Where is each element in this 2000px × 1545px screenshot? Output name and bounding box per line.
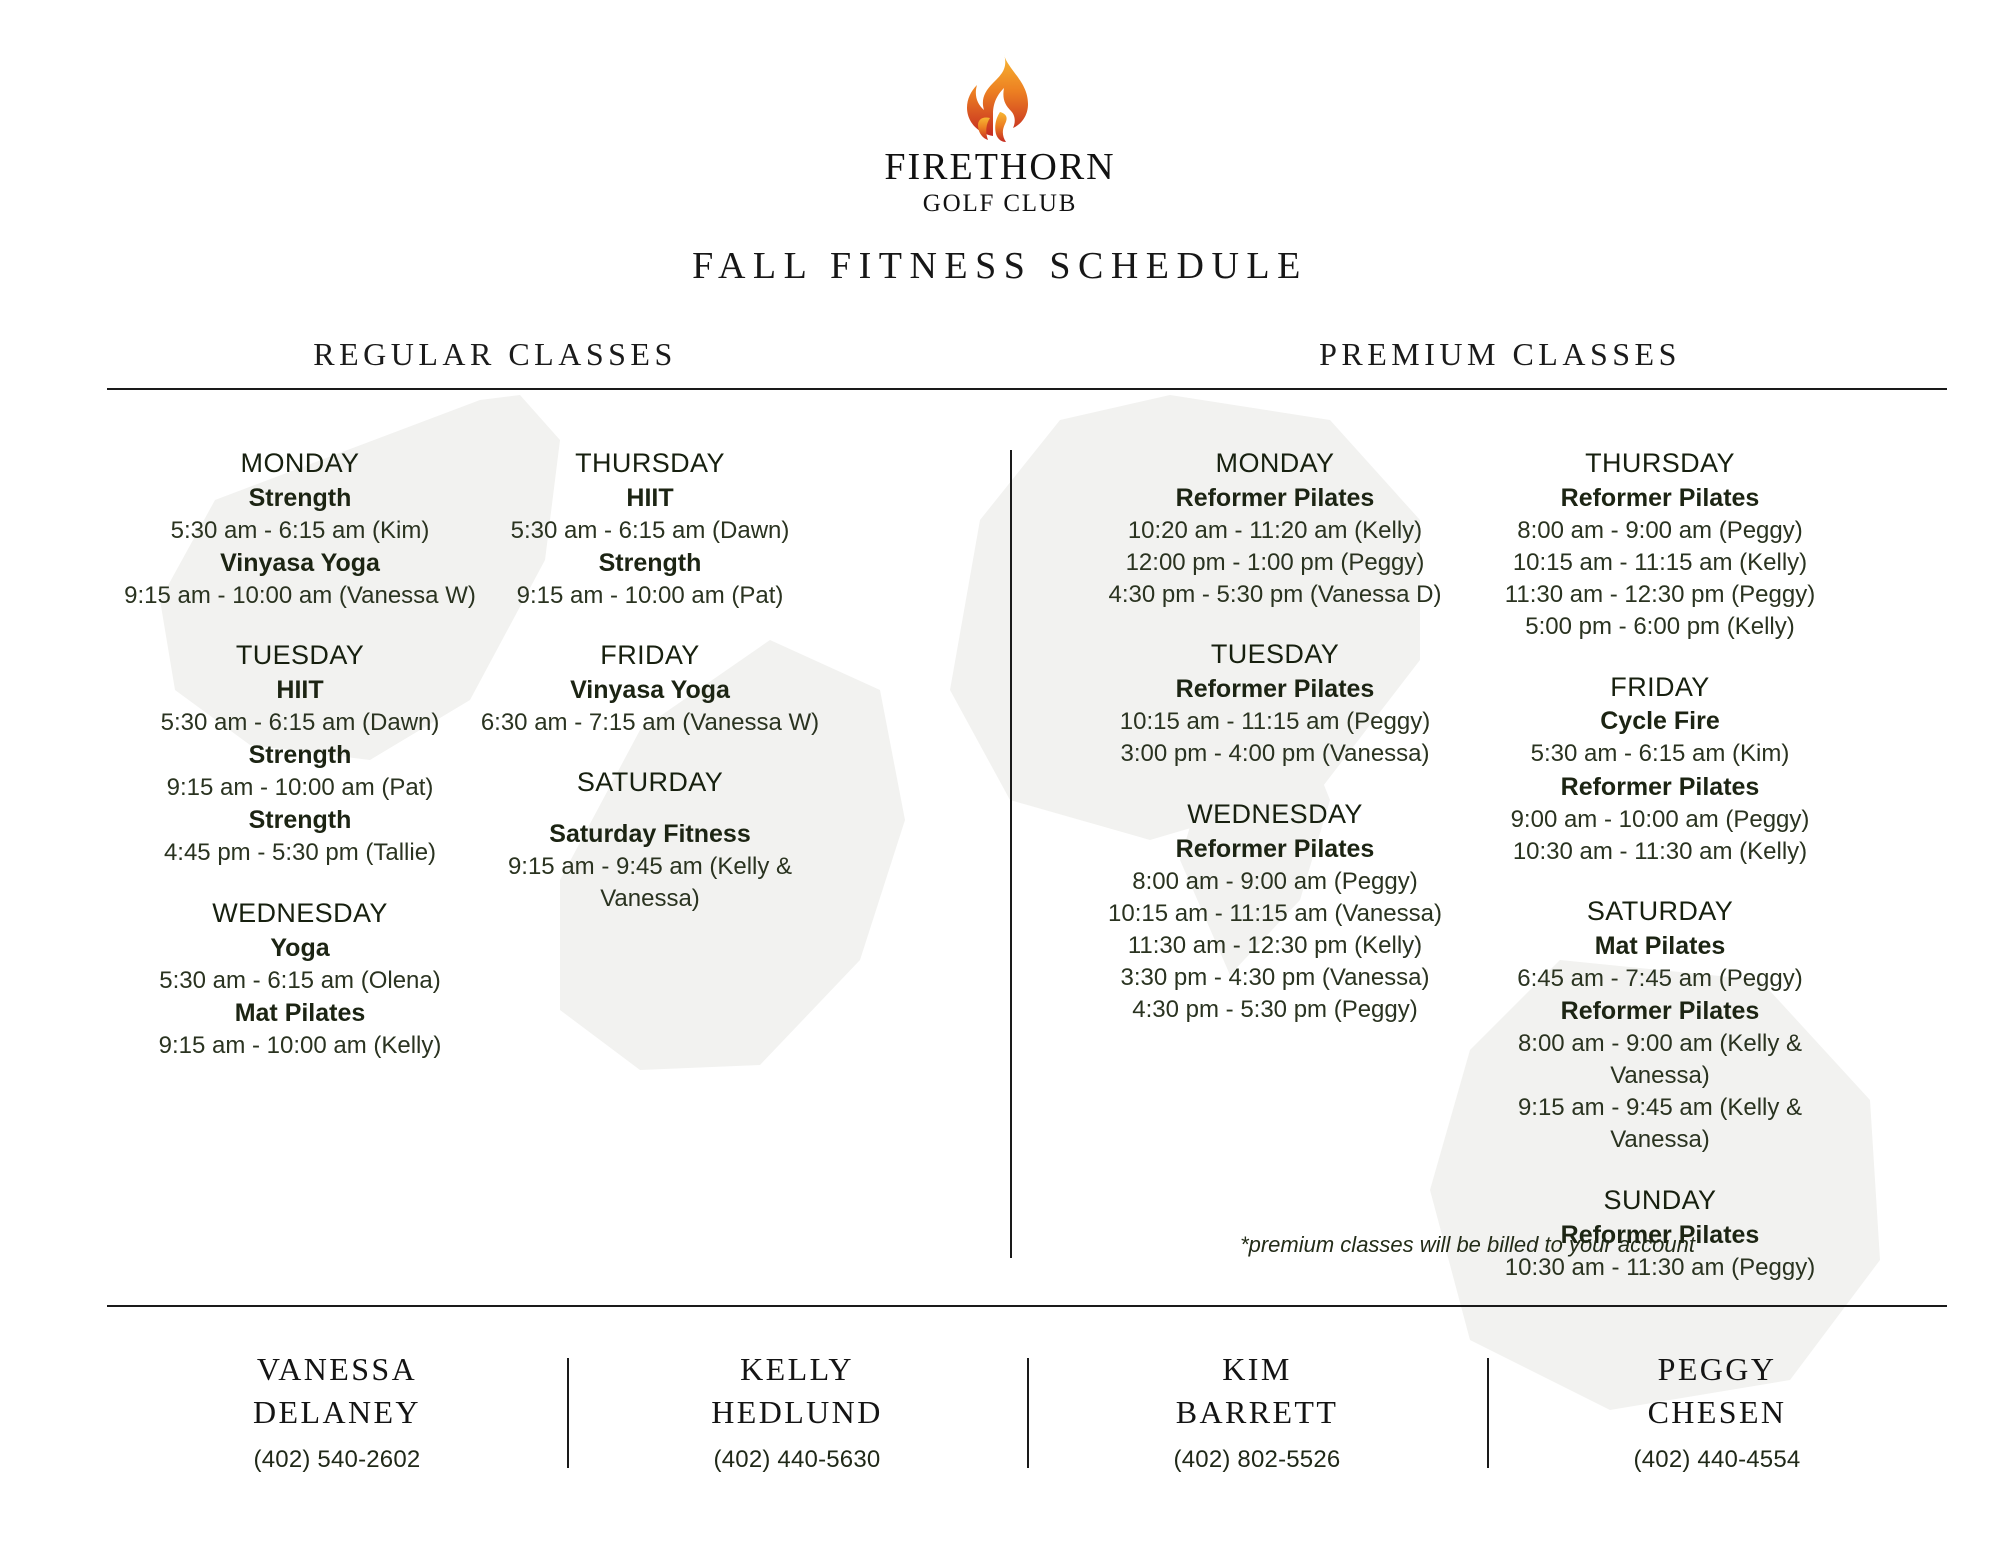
class-time: 10:15 am - 11:15 am (Peggy) bbox=[1085, 706, 1465, 738]
class-name: HIIT bbox=[470, 482, 830, 515]
class-name: Reformer Pilates bbox=[1085, 833, 1465, 866]
day-heading: SUNDAY bbox=[1470, 1183, 1850, 1219]
flame-icon bbox=[952, 52, 1048, 144]
class-time: 4:30 pm - 5:30 pm (Peggy) bbox=[1085, 994, 1465, 1026]
class-time: 9:15 am - 10:00 am (Kelly) bbox=[120, 1030, 480, 1062]
class-time: 10:15 am - 11:15 am (Kelly) bbox=[1470, 547, 1850, 579]
day-group: SATURDAYSaturday Fitness9:15 am - 9:45 a… bbox=[470, 765, 830, 915]
day-heading: THURSDAY bbox=[470, 446, 830, 482]
day-group: MONDAYStrength5:30 am - 6:15 am (Kim)Vin… bbox=[120, 446, 480, 612]
day-heading: TUESDAY bbox=[1085, 637, 1465, 673]
class-time: 6:45 am - 7:45 am (Peggy) bbox=[1470, 963, 1850, 995]
day-heading: FRIDAY bbox=[470, 638, 830, 674]
brand-name: FIRETHORN bbox=[884, 148, 1115, 188]
class-time: 5:30 am - 6:15 am (Dawn) bbox=[470, 515, 830, 547]
contact-name: VANESSADELANEY bbox=[187, 1348, 487, 1433]
day-heading: SATURDAY bbox=[1470, 894, 1850, 930]
contact-first-name: PEGGY bbox=[1567, 1348, 1867, 1391]
day-heading: MONDAY bbox=[120, 446, 480, 482]
contact-phone[interactable]: (402) 440-5630 bbox=[647, 1446, 947, 1474]
class-time: 9:15 am - 10:00 am (Vanessa W) bbox=[120, 580, 480, 612]
class-name: Strength bbox=[120, 804, 480, 837]
brand-logo: FIRETHORN GOLF CLUB bbox=[0, 52, 2000, 217]
contact-phone[interactable]: (402) 802-5526 bbox=[1107, 1446, 1407, 1474]
class-name: Reformer Pilates bbox=[1085, 673, 1465, 706]
class-name: Mat Pilates bbox=[120, 997, 480, 1030]
class-time: 6:30 am - 7:15 am (Vanessa W) bbox=[470, 707, 830, 739]
contact-phone[interactable]: (402) 540-2602 bbox=[187, 1446, 487, 1474]
class-time: 11:30 am - 12:30 pm (Kelly) bbox=[1085, 930, 1465, 962]
day-heading: MONDAY bbox=[1085, 446, 1465, 482]
day-group: WEDNESDAYYoga5:30 am - 6:15 am (Olena)Ma… bbox=[120, 896, 480, 1062]
class-time: 8:00 am - 9:00 am (Peggy) bbox=[1085, 866, 1465, 898]
top-divider bbox=[107, 388, 1947, 390]
contact-name: KELLYHEDLUND bbox=[647, 1348, 947, 1433]
class-name: Strength bbox=[120, 482, 480, 515]
class-time: 5:30 am - 6:15 am (Kim) bbox=[1470, 738, 1850, 770]
day-heading: TUESDAY bbox=[120, 638, 480, 674]
class-time: 4:45 pm - 5:30 pm (Tallie) bbox=[120, 837, 480, 869]
contact-divider bbox=[567, 1358, 569, 1468]
class-time: 12:00 pm - 1:00 pm (Peggy) bbox=[1085, 547, 1465, 579]
premium-column-1: MONDAYReformer Pilates10:20 am - 11:20 a… bbox=[1085, 446, 1465, 1026]
class-time: 11:30 am - 12:30 pm (Peggy) bbox=[1470, 579, 1850, 611]
day-group: FRIDAYVinyasa Yoga6:30 am - 7:15 am (Van… bbox=[470, 638, 830, 739]
regular-column-1: MONDAYStrength5:30 am - 6:15 am (Kim)Vin… bbox=[120, 446, 480, 1062]
class-time: 5:30 am - 6:15 am (Dawn) bbox=[120, 707, 480, 739]
class-time: 9:15 am - 10:00 am (Pat) bbox=[470, 580, 830, 612]
class-name: Reformer Pilates bbox=[1470, 995, 1850, 1028]
class-name: Strength bbox=[120, 739, 480, 772]
contact-divider bbox=[1487, 1358, 1489, 1468]
class-time: 3:00 pm - 4:00 pm (Vanessa) bbox=[1085, 738, 1465, 770]
day-heading: WEDNESDAY bbox=[1085, 797, 1465, 833]
class-name: HIIT bbox=[120, 674, 480, 707]
day-group: TUESDAYHIIT5:30 am - 6:15 am (Dawn)Stren… bbox=[120, 638, 480, 869]
section-vertical-divider bbox=[1010, 450, 1012, 1258]
class-name: Cycle Fire bbox=[1470, 705, 1850, 738]
class-name: Mat Pilates bbox=[1470, 930, 1850, 963]
day-heading: WEDNESDAY bbox=[120, 896, 480, 932]
class-name: Reformer Pilates bbox=[1470, 482, 1850, 515]
contact-card: PEGGYCHESEN(402) 440-4554 bbox=[1567, 1348, 1867, 1474]
class-time: 9:15 am - 10:00 am (Pat) bbox=[120, 772, 480, 804]
class-time: 5:00 pm - 6:00 pm (Kelly) bbox=[1470, 611, 1850, 643]
contact-divider bbox=[1027, 1358, 1029, 1468]
class-time: 4:30 pm - 5:30 pm (Vanessa D) bbox=[1085, 579, 1465, 611]
class-time: 3:30 pm - 4:30 pm (Vanessa) bbox=[1085, 962, 1465, 994]
class-time: 8:00 am - 9:00 am (Kelly & Vanessa) bbox=[1470, 1028, 1850, 1092]
section-heading-premium: PREMIUM CLASSES bbox=[1090, 336, 1910, 373]
regular-column-2: THURSDAYHIIT5:30 am - 6:15 am (Dawn)Stre… bbox=[470, 446, 830, 916]
day-group: FRIDAYCycle Fire5:30 am - 6:15 am (Kim)R… bbox=[1470, 670, 1850, 868]
day-heading: SATURDAY bbox=[470, 765, 830, 801]
class-time: 9:15 am - 9:45 am (Kelly & Vanessa) bbox=[1470, 1092, 1850, 1156]
premium-column-2: THURSDAYReformer Pilates8:00 am - 9:00 a… bbox=[1470, 446, 1850, 1284]
premium-billing-note: *premium classes will be billed to your … bbox=[1085, 1232, 1850, 1258]
class-time: 9:00 am - 10:00 am (Peggy) bbox=[1470, 804, 1850, 836]
page-title: FALL FITNESS SCHEDULE bbox=[0, 244, 2000, 288]
class-name: Strength bbox=[470, 547, 830, 580]
schedule-page: FIRETHORN GOLF CLUB FALL FITNESS SCHEDUL… bbox=[0, 0, 2000, 1545]
class-name: Saturday Fitness bbox=[470, 818, 830, 851]
class-time: 5:30 am - 6:15 am (Kim) bbox=[120, 515, 480, 547]
contact-last-name: CHESEN bbox=[1567, 1391, 1867, 1434]
day-group: THURSDAYReformer Pilates8:00 am - 9:00 a… bbox=[1470, 446, 1850, 644]
bottom-divider bbox=[107, 1305, 1947, 1307]
contact-first-name: VANESSA bbox=[187, 1348, 487, 1391]
class-time: 10:15 am - 11:15 am (Vanessa) bbox=[1085, 898, 1465, 930]
class-name: Yoga bbox=[120, 932, 480, 965]
day-heading: THURSDAY bbox=[1470, 446, 1850, 482]
class-time: 5:30 am - 6:15 am (Olena) bbox=[120, 965, 480, 997]
contact-name: PEGGYCHESEN bbox=[1567, 1348, 1867, 1433]
class-time: 9:15 am - 9:45 am (Kelly & Vanessa) bbox=[470, 851, 830, 915]
contact-card: KIMBARRETT(402) 802-5526 bbox=[1107, 1348, 1407, 1474]
class-name: Reformer Pilates bbox=[1085, 482, 1465, 515]
day-group: TUESDAYReformer Pilates10:15 am - 11:15 … bbox=[1085, 637, 1465, 770]
brand-subtitle: GOLF CLUB bbox=[923, 191, 1077, 217]
class-time: 10:30 am - 11:30 am (Kelly) bbox=[1470, 836, 1850, 868]
contact-name: KIMBARRETT bbox=[1107, 1348, 1407, 1433]
contact-card: VANESSADELANEY(402) 540-2602 bbox=[187, 1348, 487, 1474]
day-group: WEDNESDAYReformer Pilates8:00 am - 9:00 … bbox=[1085, 797, 1465, 1027]
contact-last-name: DELANEY bbox=[187, 1391, 487, 1434]
class-time: 10:20 am - 11:20 am (Kelly) bbox=[1085, 515, 1465, 547]
contact-last-name: HEDLUND bbox=[647, 1391, 947, 1434]
class-time: 8:00 am - 9:00 am (Peggy) bbox=[1470, 515, 1850, 547]
day-group: MONDAYReformer Pilates10:20 am - 11:20 a… bbox=[1085, 446, 1465, 611]
contact-first-name: KELLY bbox=[647, 1348, 947, 1391]
class-name: Vinyasa Yoga bbox=[120, 547, 480, 580]
class-name: Reformer Pilates bbox=[1470, 771, 1850, 804]
day-group: SATURDAYMat Pilates6:45 am - 7:45 am (Pe… bbox=[1470, 894, 1850, 1157]
day-group: THURSDAYHIIT5:30 am - 6:15 am (Dawn)Stre… bbox=[470, 446, 830, 612]
section-heading-regular: REGULAR CLASSES bbox=[95, 336, 895, 373]
contact-phone[interactable]: (402) 440-4554 bbox=[1567, 1446, 1867, 1474]
day-heading: FRIDAY bbox=[1470, 670, 1850, 706]
contact-card: KELLYHEDLUND(402) 440-5630 bbox=[647, 1348, 947, 1474]
contact-last-name: BARRETT bbox=[1107, 1391, 1407, 1434]
contact-first-name: KIM bbox=[1107, 1348, 1407, 1391]
class-name: Vinyasa Yoga bbox=[470, 674, 830, 707]
